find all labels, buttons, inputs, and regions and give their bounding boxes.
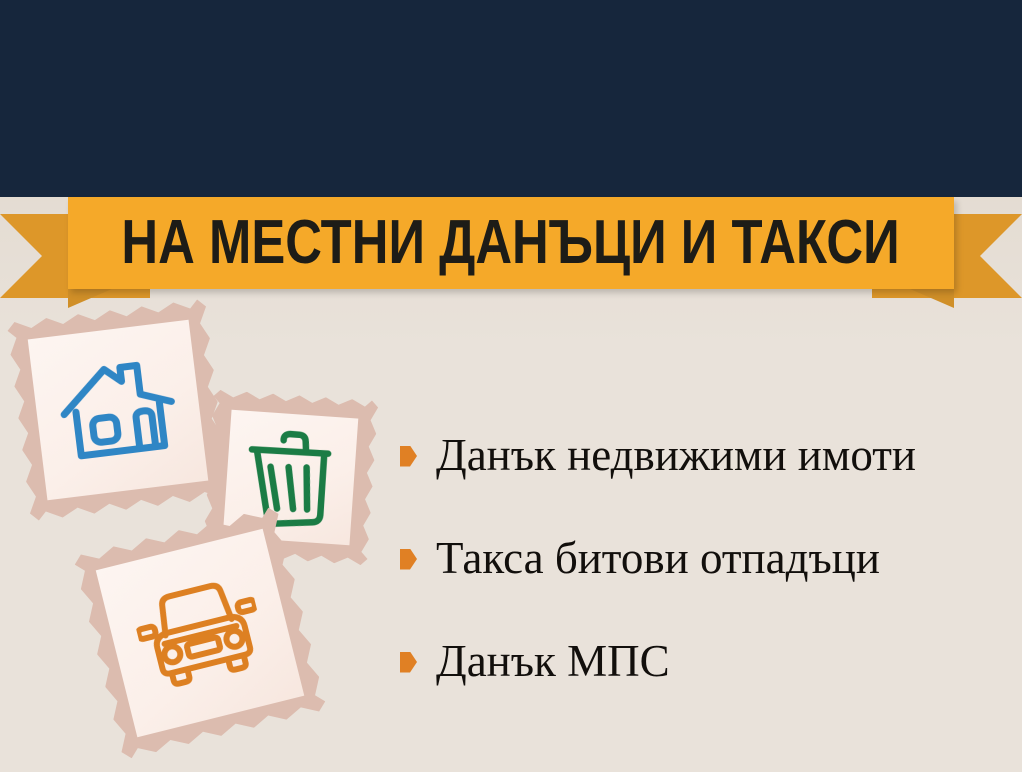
house-icon xyxy=(53,351,183,469)
ribbon-label: НА МЕСТНИ ДАНЪЦИ И ТАКСИ xyxy=(122,212,900,274)
list-item-label: Данък МПС xyxy=(436,636,670,686)
list-item[interactable]: Данък недвижими имоти xyxy=(400,430,1010,480)
arrow-bullet-icon xyxy=(400,446,417,467)
house-icon-holder xyxy=(7,299,230,522)
subtitle-ribbon: НА МЕСТНИ ДАНЪЦИ И ТАКСИ xyxy=(0,196,1022,311)
arrow-bullet-icon xyxy=(400,652,417,673)
list-item-label: Такса битови отпадъци xyxy=(436,533,880,583)
stamp-collage xyxy=(0,300,420,772)
arrow-bullet-icon xyxy=(400,549,417,570)
poster-canvas: община ЕЛИН ПЕЛИН xyxy=(0,0,1022,772)
car-icon xyxy=(129,570,272,697)
list-item-label: Данък недвижими имоти xyxy=(436,430,916,480)
tax-types-list: Данък недвижими имоти Такса битови отпад… xyxy=(400,430,1010,739)
header-bar xyxy=(0,0,1022,197)
trash-bin-icon xyxy=(243,426,338,529)
ribbon-banner: НА МЕСТНИ ДАНЪЦИ И ТАКСИ xyxy=(68,197,954,289)
stamp-property xyxy=(7,299,230,522)
list-item[interactable]: Такса битови отпадъци xyxy=(400,533,1010,583)
list-item[interactable]: Данък МПС xyxy=(400,636,1010,686)
